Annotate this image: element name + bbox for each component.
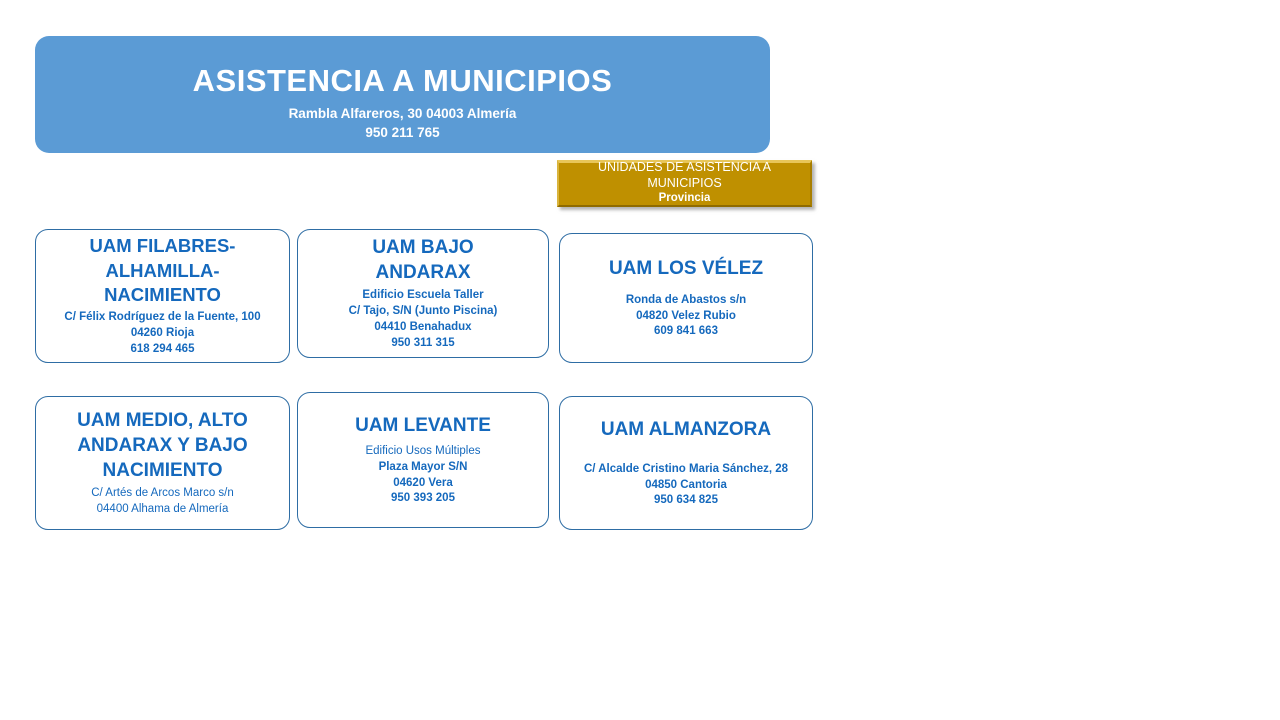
- uam-card-detail-line: 609 841 663: [626, 324, 746, 340]
- uam-card-detail-line: Plaza Mayor S/N: [365, 460, 480, 476]
- header-banner: ASISTENCIA A MUNICIPIOS Rambla Alfareros…: [35, 36, 770, 153]
- uam-card-details: Ronda de Abastos s/n04820 Velez Rubio609…: [626, 293, 746, 341]
- uam-card-title: UAM MEDIO, ALTOANDARAX Y BAJONACIMIENTO: [77, 408, 248, 483]
- uam-card-detail-line: Ronda de Abastos s/n: [626, 293, 746, 309]
- uam-card-title-line: NACIMIENTO: [90, 283, 236, 307]
- uam-card-title: UAM FILABRES-ALHAMILLA-NACIMIENTO: [90, 234, 236, 307]
- uam-card-detail-line: 04400 Alhama de Almería: [91, 502, 234, 518]
- page-title: ASISTENCIA A MUNICIPIOS: [193, 64, 613, 98]
- uam-card-title-line: ANDARAX Y BAJO: [77, 433, 248, 458]
- header-phone: 950 211 765: [289, 123, 517, 143]
- uam-card-title-line: UAM ALMANZORA: [601, 417, 771, 442]
- uam-card: UAM LOS VÉLEZRonda de Abastos s/n04820 V…: [559, 233, 813, 363]
- uam-card-detail-line: C/ Félix Rodríguez de la Fuente, 100: [64, 310, 260, 326]
- uam-card-title-line: UAM BAJO: [372, 235, 473, 260]
- uam-card-detail-line: 04850 Cantoria: [584, 478, 788, 494]
- uam-card-detail-line: 04820 Velez Rubio: [626, 309, 746, 325]
- uam-card: UAM BAJOANDARAXEdificio Escuela TallerC/…: [297, 229, 549, 358]
- uam-card-detail-line: 950 393 205: [365, 491, 480, 507]
- uam-card-title-line: NACIMIENTO: [77, 458, 248, 483]
- uam-card-detail-line: 950 634 825: [584, 493, 788, 509]
- uam-card-title-line: ANDARAX: [372, 260, 473, 285]
- uam-card-title: UAM LOS VÉLEZ: [609, 256, 763, 281]
- uam-card-detail-line: 04260 Rioja: [64, 326, 260, 342]
- uam-card-details: C/ Artés de Arcos Marco s/n04400 Alhama …: [91, 486, 234, 518]
- header-address: Rambla Alfareros, 30 04003 Almería: [289, 104, 517, 124]
- uam-card-details: C/ Félix Rodríguez de la Fuente, 1000426…: [64, 310, 260, 358]
- uam-card-title: UAM BAJOANDARAX: [372, 235, 473, 285]
- unidades-label-subtitle: Provincia: [659, 192, 711, 206]
- uam-card-detail-line: C/ Alcalde Cristino Maria Sánchez, 28: [584, 462, 788, 478]
- uam-card-details: Edificio Usos MúltiplesPlaza Mayor S/N04…: [365, 444, 480, 507]
- uam-card: UAM LEVANTEEdificio Usos MúltiplesPlaza …: [297, 392, 549, 528]
- uam-card-title-line: UAM LEVANTE: [355, 413, 491, 438]
- uam-card: UAM ALMANZORAC/ Alcalde Cristino Maria S…: [559, 396, 813, 530]
- uam-card: UAM MEDIO, ALTOANDARAX Y BAJONACIMIENTOC…: [35, 396, 290, 530]
- uam-card-title: UAM ALMANZORA: [601, 417, 771, 442]
- uam-card-detail-line: C/ Tajo, S/N (Junto Piscina): [349, 304, 498, 320]
- uam-card-detail-line: Edificio Escuela Taller: [349, 288, 498, 304]
- uam-card-detail-line: 04410 Benahadux: [349, 320, 498, 336]
- uam-card-title-line: ALHAMILLA-: [90, 259, 236, 283]
- uam-card-detail-line: Edificio Usos Múltiples: [365, 444, 480, 460]
- uam-card-detail-line: 950 311 315: [349, 336, 498, 352]
- uam-card-title: UAM LEVANTE: [355, 413, 491, 438]
- uam-card: UAM FILABRES-ALHAMILLA-NACIMIENTOC/ Féli…: [35, 229, 290, 363]
- uam-card-details: Edificio Escuela TallerC/ Tajo, S/N (Jun…: [349, 288, 498, 351]
- header-subtitle: Rambla Alfareros, 30 04003 Almería 950 2…: [289, 104, 517, 143]
- uam-card-detail-line: 618 294 465: [64, 342, 260, 358]
- uam-card-detail-line: C/ Artés de Arcos Marco s/n: [91, 486, 234, 502]
- uam-card-title-line: UAM MEDIO, ALTO: [77, 408, 248, 433]
- uam-card-details: C/ Alcalde Cristino Maria Sánchez, 28048…: [584, 462, 788, 510]
- uam-card-title-line: UAM LOS VÉLEZ: [609, 256, 763, 281]
- uam-card-title-line: UAM FILABRES-: [90, 234, 236, 258]
- unidades-label-line1: UNIDADES DE ASISTENCIA A: [598, 160, 771, 175]
- unidades-label-box: UNIDADES DE ASISTENCIA A MUNICIPIOS Prov…: [557, 160, 812, 207]
- uam-card-detail-line: 04620 Vera: [365, 476, 480, 492]
- unidades-label-line2: MUNICIPIOS: [647, 176, 721, 191]
